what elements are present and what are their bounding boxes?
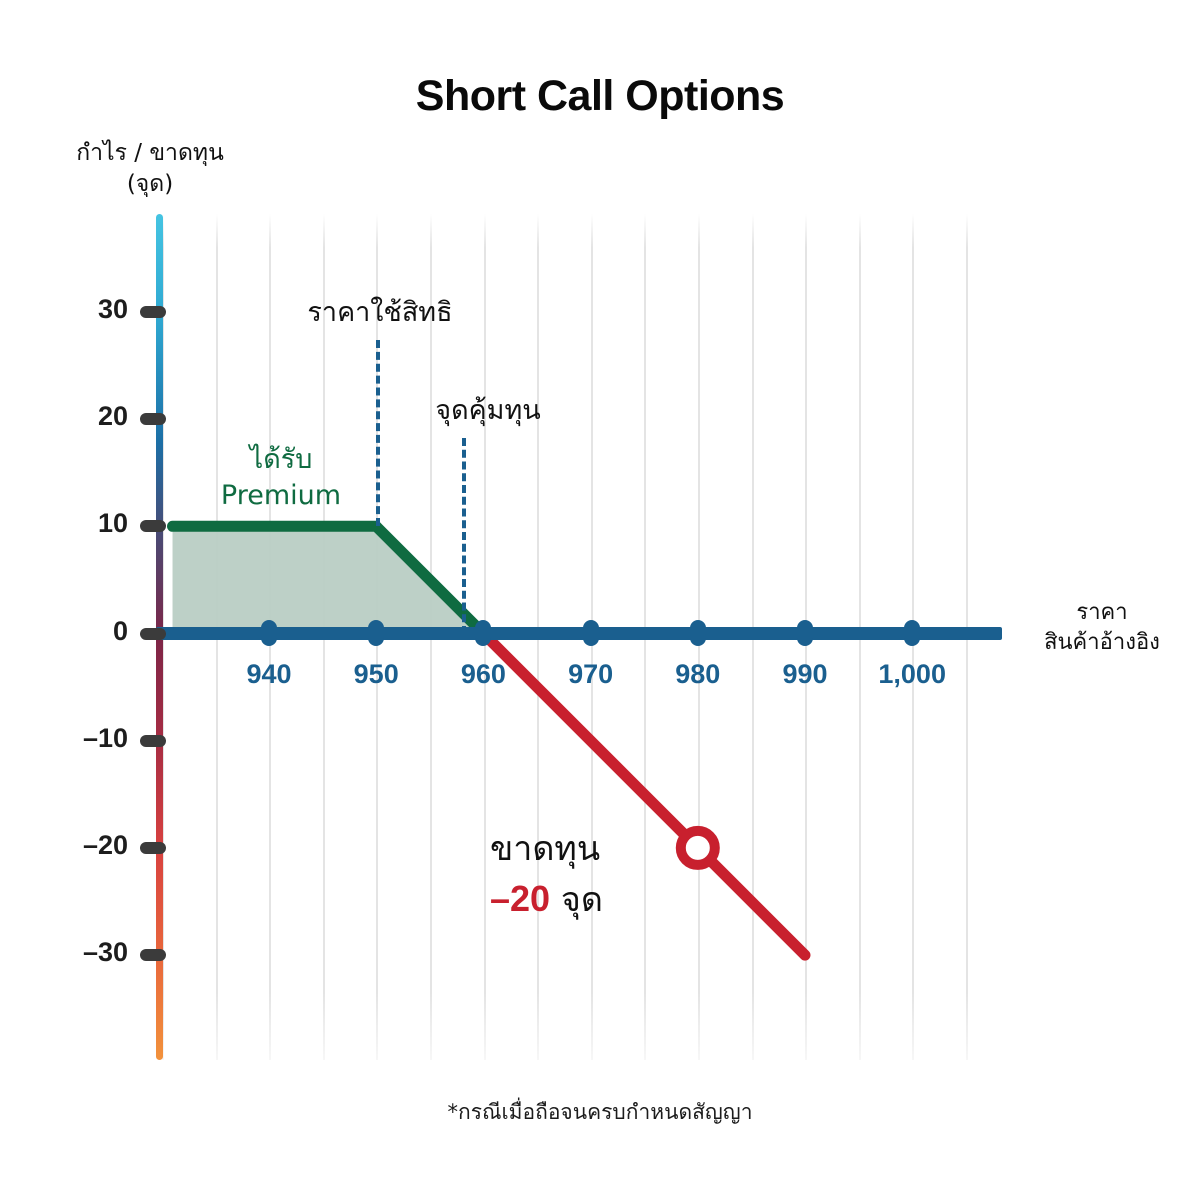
x-tick-dot — [475, 620, 491, 646]
y-tick-mark — [140, 306, 166, 318]
y-tick-mark — [140, 949, 166, 961]
plot-area: 3020100–10–20–30 9409509609709809901,000… — [0, 0, 1200, 1201]
x-tick-dot — [368, 620, 384, 646]
y-tick-mark — [140, 735, 166, 747]
footnote: *กรณีเมื่อถือจนครบกำหนดสัญญา — [0, 1096, 1200, 1129]
x-tick-label: 940 — [214, 659, 324, 690]
y-tick-label: –20 — [38, 830, 128, 861]
y-tick-label: 0 — [38, 616, 128, 647]
y-tick-mark — [140, 413, 166, 425]
y-tick-mark — [140, 520, 166, 532]
y-tick-mark — [140, 628, 166, 640]
loss-value: –20 — [490, 878, 550, 919]
loss-unit: จุด — [561, 880, 603, 920]
x-tick-label: 980 — [643, 659, 753, 690]
breakeven-guide — [462, 438, 466, 634]
y-tick-label: –10 — [38, 723, 128, 754]
breakeven-label: จุดคุ้มทุน — [348, 394, 628, 428]
x-tick-dot — [797, 620, 813, 646]
payoff-curve — [0, 0, 1200, 1201]
x-tick-label: 970 — [536, 659, 646, 690]
y-tick-label: 20 — [38, 401, 128, 432]
chart-page: Short Call Options กำไร / ขาดทุน (จุด) ร… — [0, 0, 1200, 1201]
x-tick-dot — [261, 620, 277, 646]
premium-label: ได้รับ Premium — [176, 442, 386, 514]
y-tick-mark — [140, 842, 166, 854]
x-axis-line — [156, 627, 1002, 640]
x-tick-dot — [690, 620, 706, 646]
x-tick-dot — [904, 620, 920, 646]
strike-price-label: ราคาใช้สิทธิ — [230, 296, 530, 330]
loss-annotation: ขาดทุน –20 จุด — [490, 824, 720, 925]
y-tick-label: 10 — [38, 508, 128, 539]
y-tick-label: –30 — [38, 937, 128, 968]
loss-annotation-amount: –20 จุด — [490, 874, 720, 925]
x-tick-label: 990 — [750, 659, 860, 690]
x-tick-dot — [583, 620, 599, 646]
y-tick-label: 30 — [38, 294, 128, 325]
x-tick-label: 950 — [321, 659, 431, 690]
x-tick-label: 960 — [428, 659, 538, 690]
x-tick-label: 1,000 — [857, 659, 967, 690]
loss-annotation-title: ขาดทุน — [490, 824, 720, 874]
